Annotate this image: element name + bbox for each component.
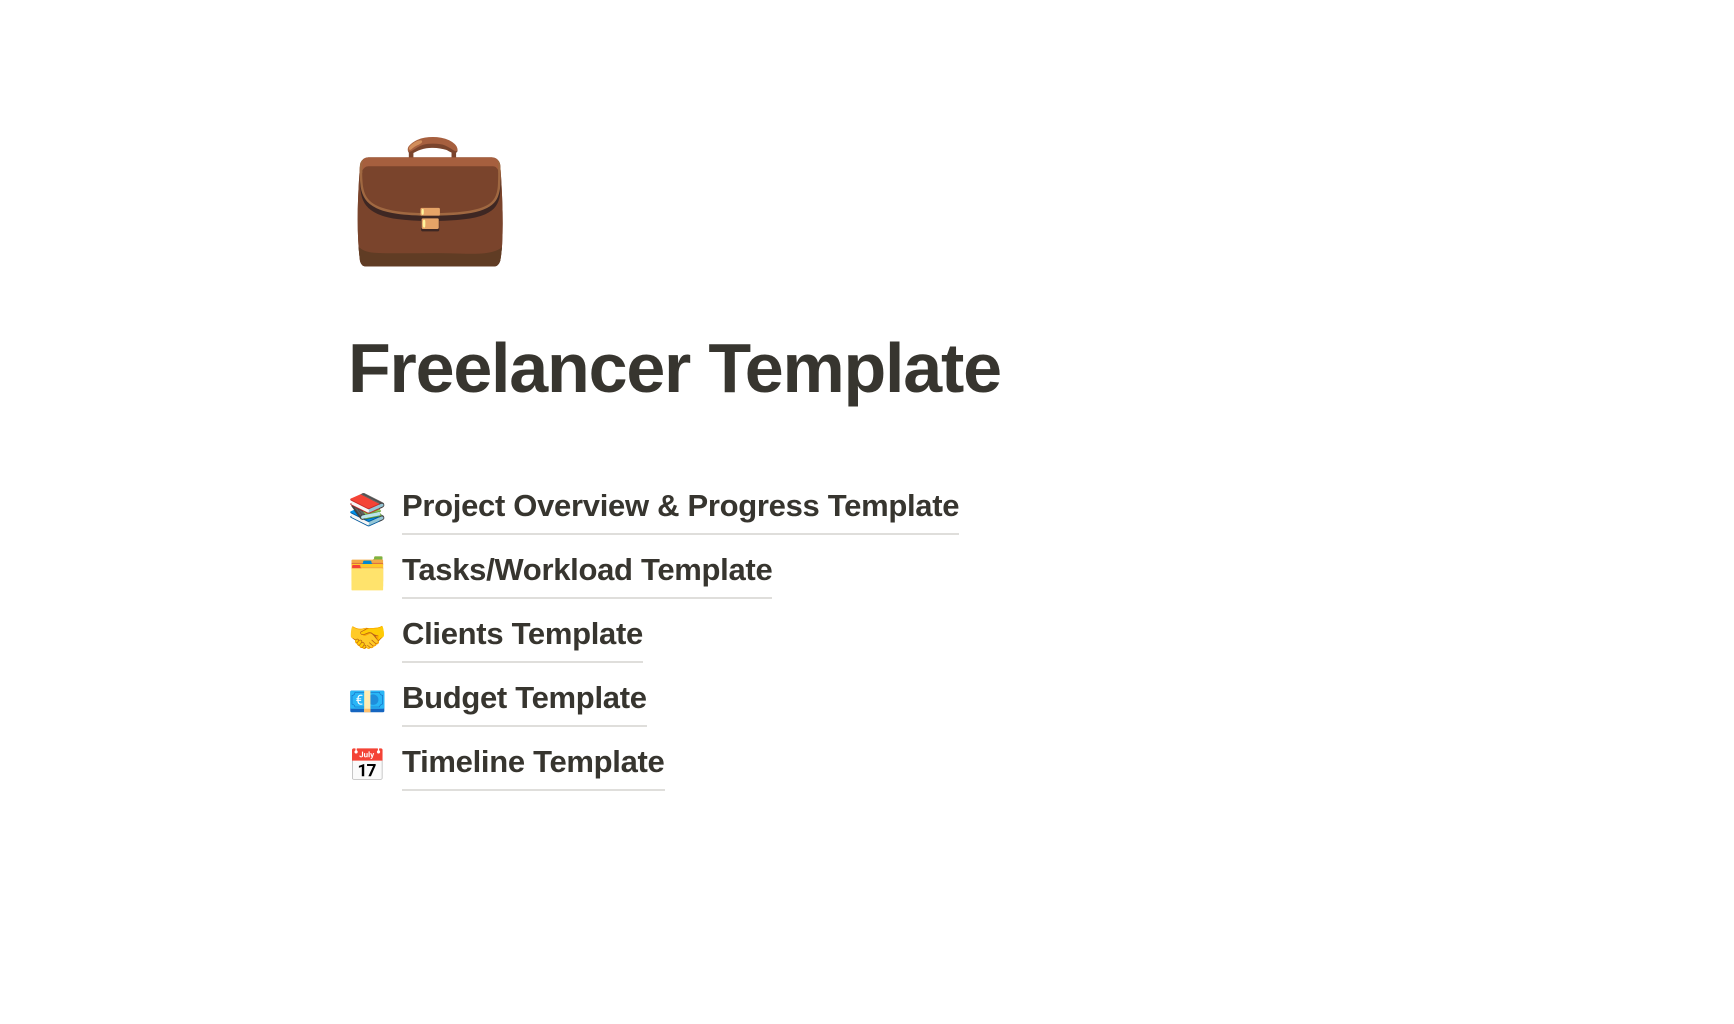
list-item[interactable]: 📅 Timeline Template — [348, 734, 665, 798]
books-icon: 📚 — [348, 491, 386, 529]
link-budget-template[interactable]: Budget Template — [402, 678, 647, 727]
list-item[interactable]: 📚 Project Overview & Progress Template — [348, 478, 959, 542]
link-project-overview-progress-template[interactable]: Project Overview & Progress Template — [402, 486, 959, 535]
list-item[interactable]: 💶 Budget Template — [348, 670, 647, 734]
page-content-column: 💼 Freelancer Template 📚 Project Overview… — [348, 0, 1548, 798]
link-clients-template[interactable]: Clients Template — [402, 614, 643, 663]
handshake-icon: 🤝 — [348, 619, 386, 657]
page-canvas: 💼 Freelancer Template 📚 Project Overview… — [0, 0, 1734, 1024]
card-index-dividers-icon: 🗂️ — [348, 555, 386, 593]
page-title: Freelancer Template — [348, 326, 1548, 410]
list-item[interactable]: 🤝 Clients Template — [348, 606, 643, 670]
briefcase-icon[interactable]: 💼 — [348, 118, 500, 270]
calendar-icon: 📅 — [348, 747, 386, 785]
euro-banknote-icon: 💶 — [348, 683, 386, 721]
template-link-list: 📚 Project Overview & Progress Template 🗂… — [348, 478, 1548, 798]
link-timeline-template[interactable]: Timeline Template — [402, 742, 665, 791]
list-item[interactable]: 🗂️ Tasks/Workload Template — [348, 542, 772, 606]
link-tasks-workload-template[interactable]: Tasks/Workload Template — [402, 550, 772, 599]
